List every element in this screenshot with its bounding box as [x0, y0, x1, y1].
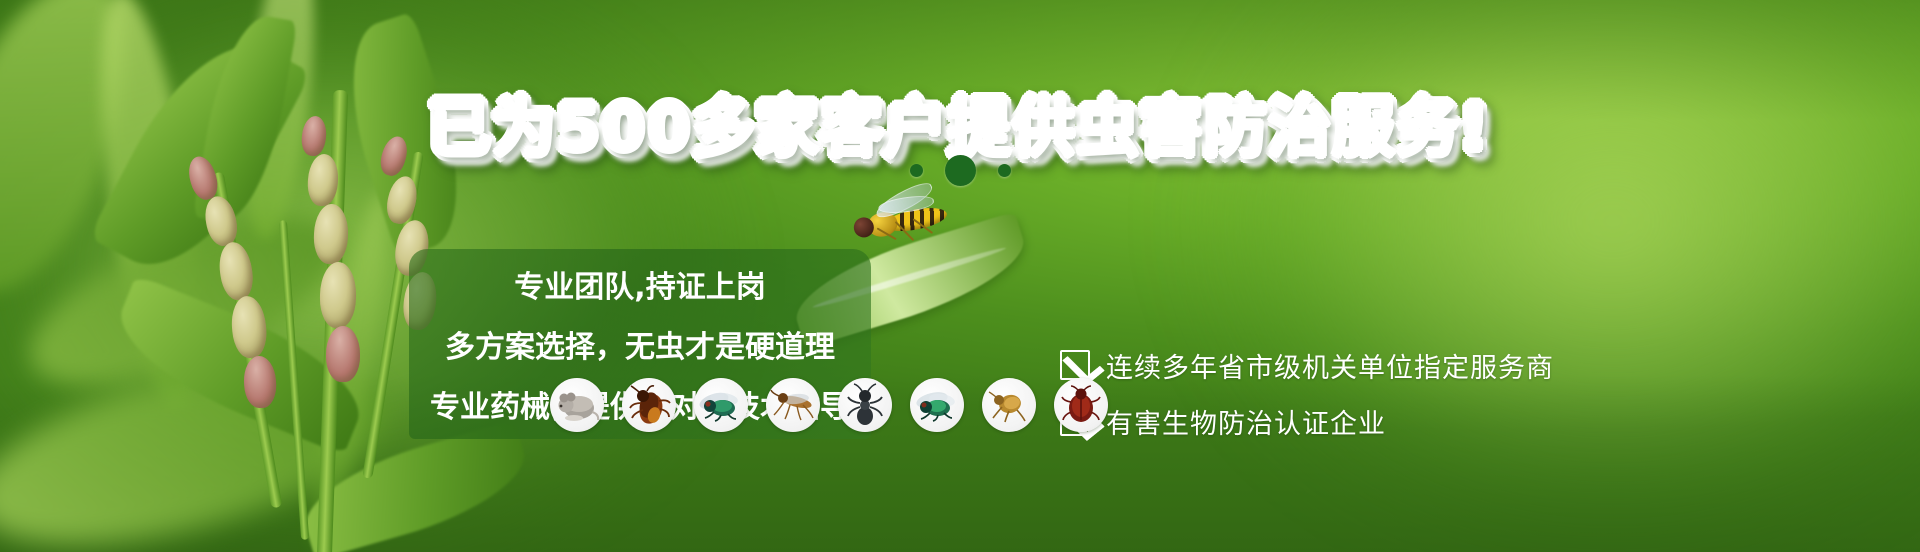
- cockroach-glyph: [622, 378, 676, 432]
- seed-head: [326, 326, 360, 382]
- mosquito-icon[interactable]: 蚊: [766, 378, 820, 432]
- mosquito-glyph: [766, 378, 820, 432]
- bedbug-icon[interactable]: 臭虫: [1054, 378, 1108, 432]
- housefly-icon[interactable]: 蝇: [694, 378, 748, 432]
- mouse-icon[interactable]: 鼠: [550, 378, 604, 432]
- dot-small-left-icon: [910, 164, 923, 177]
- list-item: 连续多年省市级机关单位指定服务商: [1060, 337, 1554, 393]
- ant-glyph: [838, 378, 892, 432]
- promotional-banner: 已为500多家客户提供虫害防治服务! 专业团队,持证上岗 多方案选择，无虫才是硬…: [0, 0, 1920, 552]
- greenbottle-fly-icon[interactable]: 绿蝇: [910, 378, 964, 432]
- panel-line-2: 多方案选择，无虫才是硬道理: [409, 333, 871, 363]
- decorative-dots: [0, 155, 1920, 186]
- greenbottle-fly-glyph: [910, 378, 964, 432]
- dot-small-right-icon: [998, 164, 1011, 177]
- credentials-checklist: 连续多年省市级机关单位指定服务商 有害生物防治认证企业: [1060, 337, 1554, 449]
- bedbug-glyph: [1054, 378, 1108, 432]
- panel-line-1: 专业团队,持证上岗: [409, 273, 871, 303]
- pest-icon-row: 鼠 蟑螂: [550, 378, 1108, 432]
- flea-icon[interactable]: 跳蚤: [982, 378, 1036, 432]
- checkbox-checked-icon: [1060, 350, 1090, 380]
- check-label: 连续多年省市级机关单位指定服务商: [1106, 346, 1554, 385]
- check-label: 有害生物防治认证企业: [1106, 402, 1386, 441]
- mouse-glyph: [550, 378, 604, 432]
- seed-head: [216, 240, 256, 302]
- list-item: 有害生物防治认证企业: [1060, 393, 1554, 449]
- seed-head: [319, 262, 356, 329]
- ant-icon[interactable]: 蚁: [838, 378, 892, 432]
- dot-large-center-icon: [945, 155, 976, 186]
- housefly-glyph: [694, 378, 748, 432]
- seed-head: [313, 203, 349, 264]
- flea-glyph: [982, 378, 1036, 432]
- cockroach-icon[interactable]: 蟑螂: [622, 378, 676, 432]
